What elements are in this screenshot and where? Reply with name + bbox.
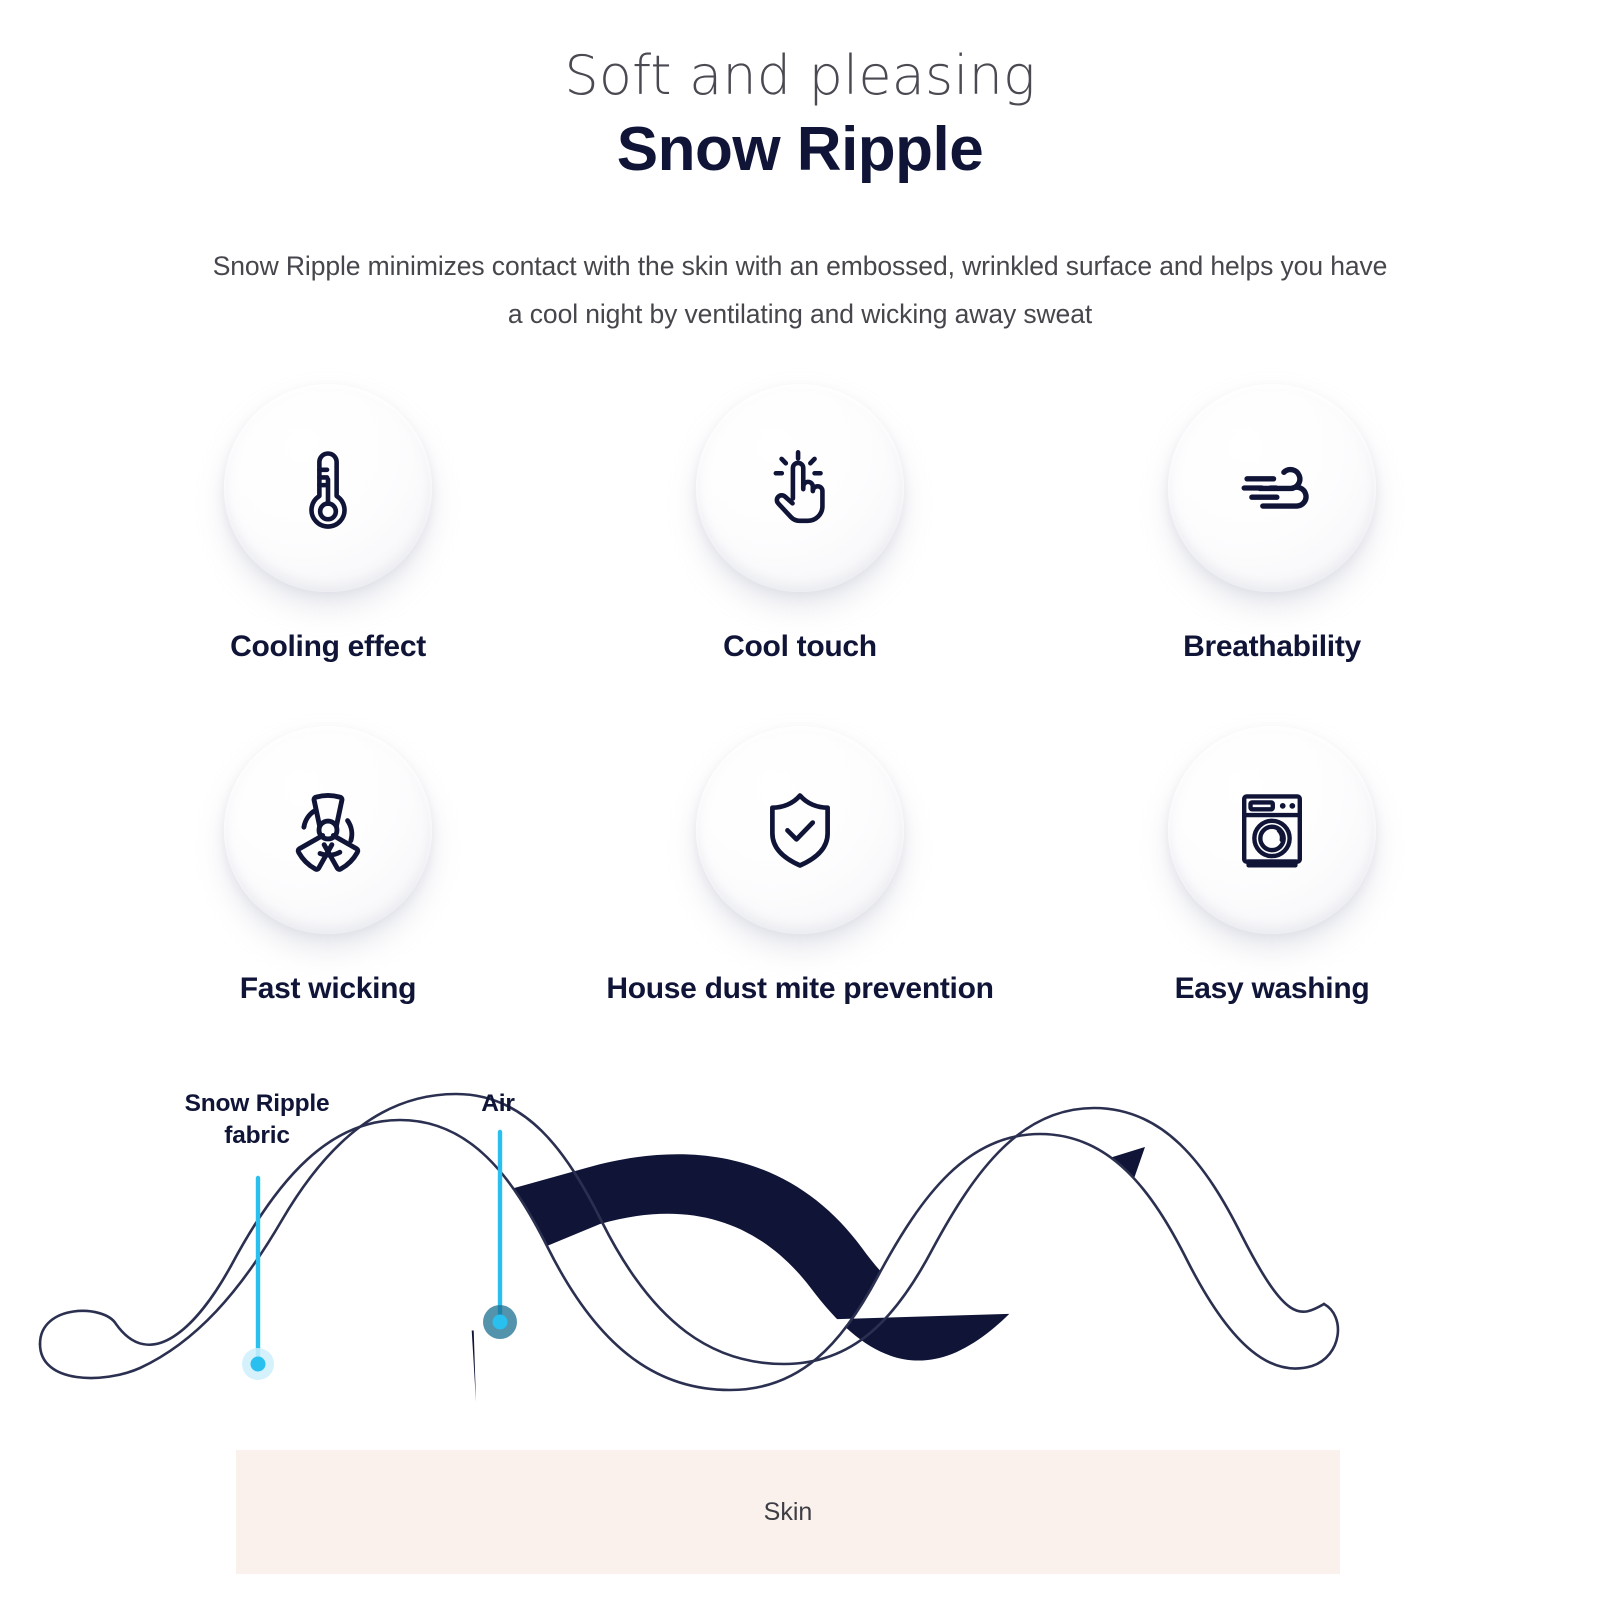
- annotation-line-1: Snow Ripple: [162, 1088, 352, 1121]
- feature-label: Cooling effect: [230, 630, 426, 664]
- feature-icon-bubble: [696, 726, 904, 934]
- thermometer-icon: [282, 442, 374, 534]
- feature-label: House dust mite prevention: [606, 972, 993, 1006]
- feature-label: Breathability: [1183, 630, 1361, 664]
- fabric-diagram: Snow Ripple fabric Air: [0, 1072, 1600, 1402]
- hand-tap-icon: [754, 442, 846, 534]
- page-title: Snow Ripple: [0, 112, 1600, 188]
- annotation-line-2: fabric: [162, 1120, 352, 1153]
- feature-icon-bubble: [224, 726, 432, 934]
- annotation-air: Air: [428, 1088, 568, 1121]
- feature-fast-wicking: Fast wicking: [92, 726, 564, 1006]
- feature-grid: Cooling effect Cool touch: [0, 384, 1600, 1006]
- feature-icon-bubble: [1168, 726, 1376, 934]
- washing-machine-icon: [1226, 784, 1318, 876]
- fan-propeller-icon: [279, 781, 377, 879]
- feature-icon-bubble: [224, 384, 432, 592]
- feature-dust-mite-prevention: House dust mite prevention: [564, 726, 1036, 1006]
- page-header: Soft and pleasing Snow Ripple: [0, 0, 1600, 187]
- feature-cool-touch: Cool touch: [564, 384, 1036, 664]
- feature-label: Cool touch: [723, 630, 877, 664]
- shield-check-icon: [753, 783, 847, 877]
- feature-cooling-effect: Cooling effect: [92, 384, 564, 664]
- skin-label: Skin: [764, 1498, 813, 1527]
- page-subtitle: Snow Ripple minimizes contact with the s…: [205, 243, 1395, 337]
- skin-layer-bar: Skin: [236, 1450, 1340, 1574]
- annotation-snow-ripple-fabric: Snow Ripple fabric: [162, 1088, 352, 1153]
- page-eyebrow: Soft and pleasing: [0, 44, 1600, 108]
- feature-icon-bubble: [1168, 384, 1376, 592]
- feature-label: Easy washing: [1175, 972, 1370, 1006]
- wind-icon: [1226, 442, 1318, 534]
- feature-icon-bubble: [696, 384, 904, 592]
- feature-breathability: Breathability: [1036, 384, 1508, 664]
- feature-label: Fast wicking: [240, 972, 416, 1006]
- feature-easy-washing: Easy washing: [1036, 726, 1508, 1006]
